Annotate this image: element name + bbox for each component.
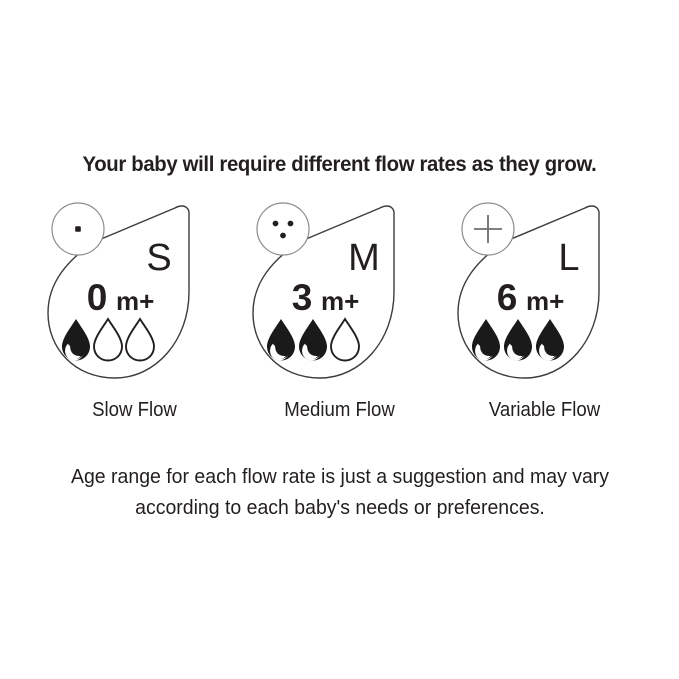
footnote: Age range for each flow rate is just a s… bbox=[45, 461, 634, 523]
one-hole-icon bbox=[75, 226, 81, 232]
footnote-line-1: Age range for each flow rate is just a s… bbox=[45, 461, 634, 492]
nipple-diagram-slow: S 0 m+ bbox=[32, 196, 237, 396]
hole-pattern-circle bbox=[257, 203, 309, 255]
footnote-line-2: according to each baby's needs or prefer… bbox=[45, 492, 634, 523]
size-letter: L bbox=[558, 237, 579, 279]
age-number: 0 bbox=[87, 277, 108, 318]
size-letter: S bbox=[146, 237, 171, 279]
flow-captions-row: Slow Flow Medium Flow Variable Flow bbox=[0, 399, 679, 429]
flow-caption-medium: Medium Flow bbox=[244, 399, 435, 422]
age-suffix: m+ bbox=[526, 286, 564, 316]
flow-option-card[interactable]: S 0 m+ bbox=[32, 196, 237, 396]
flow-caption-variable: Variable Flow bbox=[449, 399, 640, 422]
age-number: 3 bbox=[292, 277, 313, 318]
page-title: Your baby will require different flow ra… bbox=[19, 152, 661, 177]
flow-options-row: S 0 m+ bbox=[0, 196, 679, 396]
flow-caption-slow: Slow Flow bbox=[39, 399, 230, 422]
size-letter: M bbox=[348, 237, 380, 279]
flow-rate-infographic: Your baby will require different flow ra… bbox=[0, 0, 679, 679]
flow-option-card[interactable]: L 6 m+ bbox=[442, 196, 647, 396]
nipple-diagram-variable: L 6 m+ bbox=[442, 196, 647, 396]
nipple-diagram-medium: M 3 m+ bbox=[237, 196, 442, 396]
flow-option-card[interactable]: M 3 m+ bbox=[237, 196, 442, 396]
age-suffix: m+ bbox=[321, 286, 359, 316]
age-number: 6 bbox=[497, 277, 518, 318]
age-suffix: m+ bbox=[116, 286, 154, 316]
